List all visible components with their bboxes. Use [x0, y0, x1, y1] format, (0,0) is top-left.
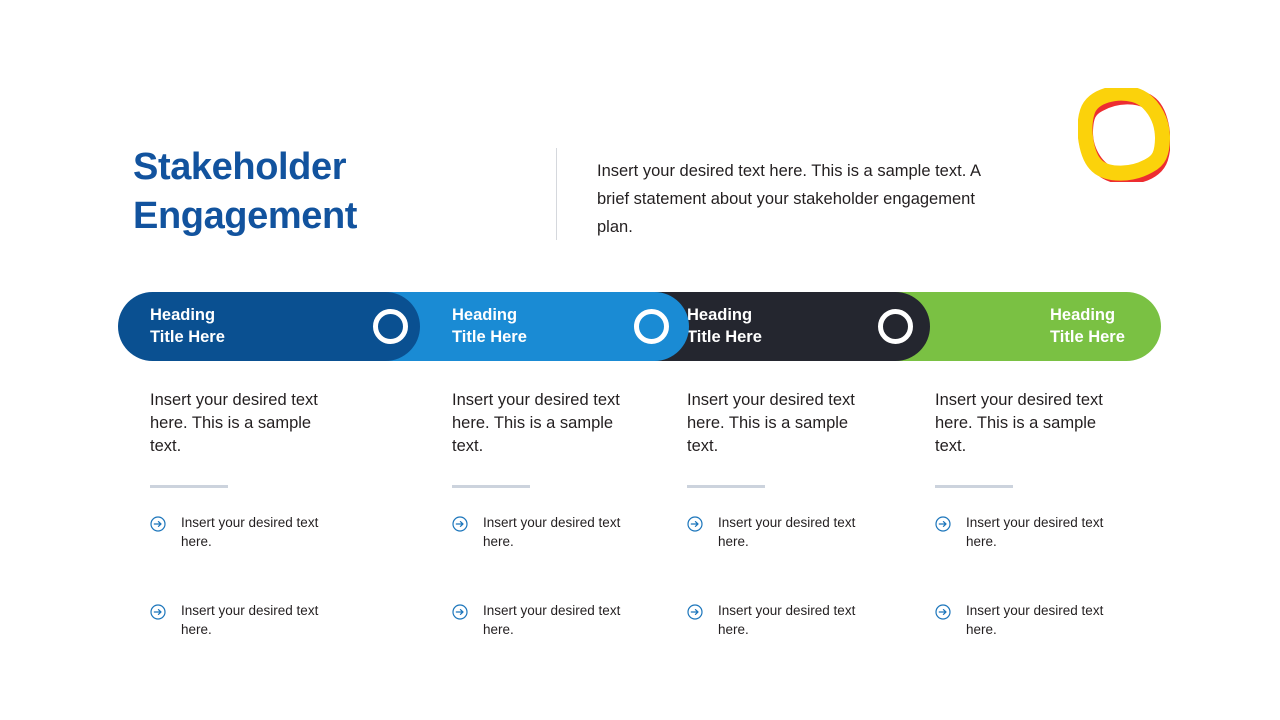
column-1-rule	[150, 485, 228, 488]
column-3-body: Insert your desired text here. This is a…	[687, 389, 862, 458]
column-4: Insert your desired text here. This is a…	[935, 389, 1116, 639]
column-3-bullet-1-text: Insert your desired text here.	[718, 514, 868, 551]
arrow-right-circle-icon	[687, 604, 703, 620]
column-4-bullet-2[interactable]: Insert your desired text here.	[935, 602, 1116, 639]
arrow-right-circle-icon	[150, 516, 166, 532]
column-2-body: Insert your desired text here. This is a…	[452, 389, 627, 458]
banner-segment-4-heading: Heading Title Here	[1050, 304, 1125, 348]
arrow-right-circle-icon	[935, 604, 951, 620]
column-3: Insert your desired text here. This is a…	[687, 389, 868, 639]
column-4-bullet-2-text: Insert your desired text here.	[966, 602, 1116, 639]
arrow-right-circle-icon	[452, 604, 468, 620]
column-3-bullet-1[interactable]: Insert your desired text here.	[687, 514, 868, 551]
column-2: Insert your desired text here. This is a…	[452, 389, 633, 639]
column-2-bullet-1-text: Insert your desired text here.	[483, 514, 633, 551]
column-4-rule	[935, 485, 1013, 488]
column-1: Insert your desired text here. This is a…	[150, 389, 331, 639]
intro-paragraph: Insert your desired text here. This is a…	[597, 157, 997, 241]
column-4-body: Insert your desired text here. This is a…	[935, 389, 1110, 458]
arrow-right-circle-icon	[150, 604, 166, 620]
arrow-right-circle-icon	[452, 516, 468, 532]
column-1-bullet-2-text: Insert your desired text here.	[181, 602, 331, 639]
column-3-bullet-2-text: Insert your desired text here.	[718, 602, 868, 639]
column-2-rule	[452, 485, 530, 488]
column-1-bullet-1-text: Insert your desired text here.	[181, 514, 331, 551]
column-2-bullet-2-text: Insert your desired text here.	[483, 602, 633, 639]
title-divider	[556, 148, 557, 240]
arrow-right-circle-icon	[687, 516, 703, 532]
brand-logo	[1078, 88, 1170, 182]
banner-segment-1-ring-icon	[373, 309, 408, 344]
column-1-bullet-1[interactable]: Insert your desired text here.	[150, 514, 331, 551]
column-4-bullet-1-text: Insert your desired text here.	[966, 514, 1116, 551]
column-2-bullet-2[interactable]: Insert your desired text here.	[452, 602, 633, 639]
banner-segment-3-ring-icon	[878, 309, 913, 344]
column-4-bullet-1[interactable]: Insert your desired text here.	[935, 514, 1116, 551]
column-2-bullet-1[interactable]: Insert your desired text here.	[452, 514, 633, 551]
segmented-banner: Heading Title Here Heading Title Here He…	[118, 292, 1161, 361]
arrow-right-circle-icon	[935, 516, 951, 532]
banner-segment-2-heading: Heading Title Here	[452, 304, 527, 348]
page-title-line-2: Engagement	[133, 192, 533, 241]
banner-segment-4-ring-icon	[1200, 309, 1235, 344]
column-1-body: Insert your desired text here. This is a…	[150, 389, 325, 458]
banner-segment-1-heading: Heading Title Here	[150, 304, 225, 348]
column-3-bullet-2[interactable]: Insert your desired text here.	[687, 602, 868, 639]
page-title: Stakeholder Engagement	[133, 143, 533, 241]
column-1-bullet-2[interactable]: Insert your desired text here.	[150, 602, 331, 639]
column-3-rule	[687, 485, 765, 488]
banner-segment-1[interactable]: Heading Title Here	[118, 292, 420, 361]
banner-segment-3-heading: Heading Title Here	[687, 304, 762, 348]
page-title-line-1: Stakeholder	[133, 143, 533, 192]
banner-segment-2-ring-icon	[634, 309, 669, 344]
